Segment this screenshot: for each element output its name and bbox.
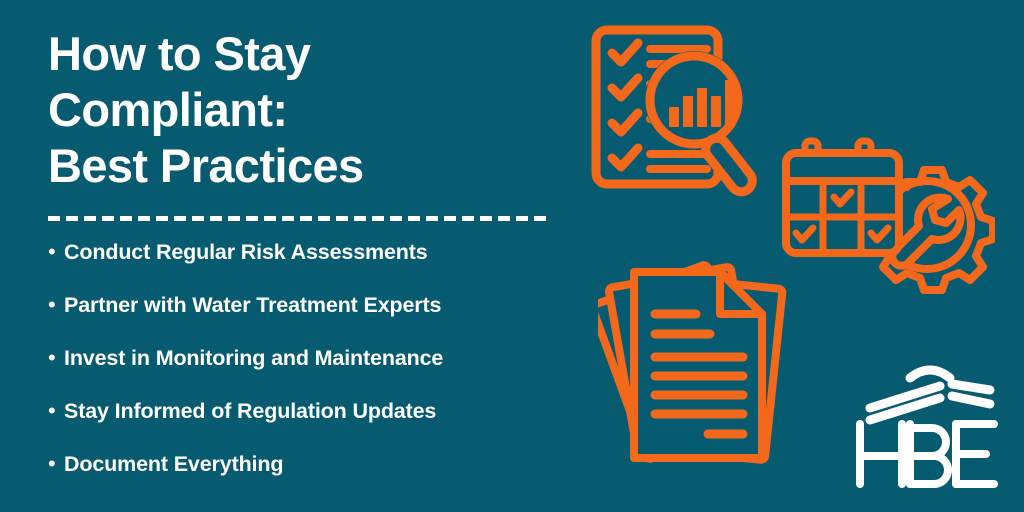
list-item: • Invest in Monitoring and Maintenance	[48, 345, 558, 398]
bullet-dot-icon: •	[48, 239, 64, 265]
dashed-divider	[48, 216, 546, 221]
page-title: How to Stay Compliant: Best Practices	[48, 26, 558, 194]
bullet-dot-icon: •	[48, 345, 64, 371]
list-item-label: Invest in Monitoring and Maintenance	[64, 345, 443, 371]
calendar-group	[786, 141, 899, 253]
list-item: • Stay Informed of Regulation Updates	[48, 398, 558, 451]
text-panel: How to Stay Compliant: Best Practices • …	[48, 26, 558, 486]
clipboard-magnifier-svg	[590, 22, 790, 212]
best-practices-list: • Conduct Regular Risk Assessments • Par…	[48, 239, 558, 504]
list-item: • Partner with Water Treatment Experts	[48, 292, 558, 345]
list-item-label: Document Everything	[64, 451, 283, 477]
hbe-logo-svg	[848, 352, 998, 492]
calendar-gear-icon	[780, 135, 995, 320]
bullet-dot-icon: •	[48, 451, 64, 477]
bullet-dot-icon: •	[48, 398, 64, 424]
infographic-canvas: How to Stay Compliant: Best Practices • …	[0, 0, 1024, 512]
hbe-logo-letters	[860, 424, 994, 484]
clipboard-checkmarks	[612, 43, 638, 167]
documents-stack-svg	[598, 258, 798, 483]
bullet-dot-icon: •	[48, 292, 64, 318]
list-item-label: Partner with Water Treatment Experts	[64, 292, 441, 318]
hbe-logo-swooshes	[870, 370, 990, 420]
calendar-gear-svg	[780, 135, 995, 320]
documents-stack-icon	[598, 258, 798, 483]
clipboard-magnifier-icon	[590, 22, 790, 212]
hbe-logo: HBE	[848, 352, 998, 492]
list-item-label: Stay Informed of Regulation Updates	[64, 398, 436, 424]
list-item-label: Conduct Regular Risk Assessments	[64, 239, 428, 265]
list-item: • Document Everything	[48, 451, 558, 504]
illustration-panel: HBE	[560, 0, 1024, 512]
list-item: • Conduct Regular Risk Assessments	[48, 239, 558, 292]
